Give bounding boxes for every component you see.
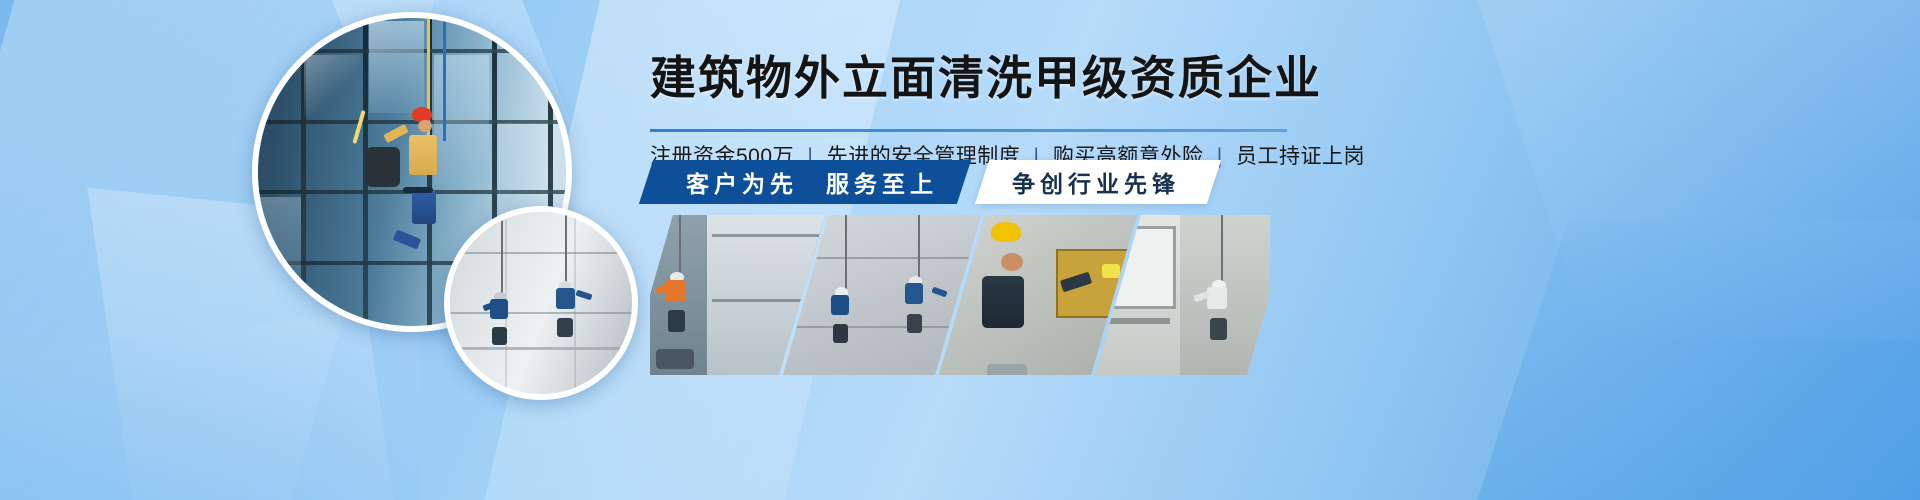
background-shape-5 bbox=[0, 304, 420, 500]
slogan-primary-panel: 客户为先 服务至上 bbox=[639, 160, 971, 204]
promotional-banner: 建筑物外立面清洗甲级资质企业 注册资金500万 | 先进的安全管理制度 | 购买… bbox=[0, 0, 1920, 500]
headline-divider bbox=[650, 129, 1287, 132]
background-shape-6 bbox=[1452, 0, 1920, 340]
slogan-secondary-text: 服务至上 bbox=[826, 165, 938, 199]
circle-photo-rope-workers bbox=[444, 206, 638, 400]
slogan-highlight-panel: 争创行业先锋 bbox=[975, 160, 1221, 204]
subtitle-part-4: 员工持证上岗 bbox=[1236, 145, 1365, 168]
banner-headline: 建筑物外立面清洗甲级资质企业 bbox=[650, 52, 1310, 105]
background-shape-7 bbox=[1432, 220, 1920, 500]
photo-strip bbox=[650, 215, 1270, 375]
slogan-bar: 客户为先 服务至上 争创行业先锋 bbox=[646, 160, 1214, 204]
slogan-primary-text: 客户为先 bbox=[686, 165, 798, 199]
slogan-highlight-text: 争创行业先锋 bbox=[1012, 165, 1180, 199]
